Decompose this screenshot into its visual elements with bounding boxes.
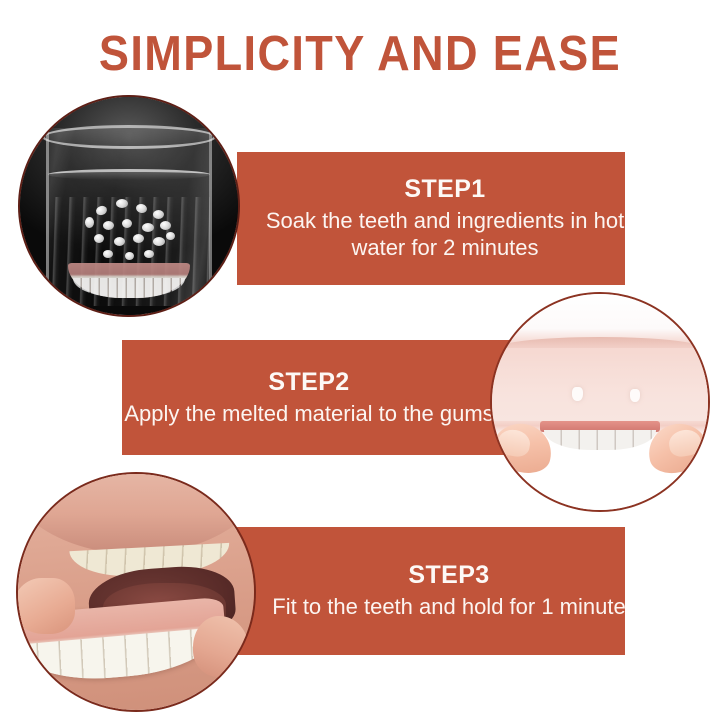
pellet-icon: [153, 237, 165, 246]
pellet-icon: [103, 250, 113, 258]
veneer-teeth-row: [544, 430, 656, 449]
gum-band-shape: [492, 348, 708, 421]
step-2-label: STEP2: [268, 368, 349, 397]
mouth-fitting-photo: [18, 474, 254, 710]
step-1-photo-circle: [18, 95, 240, 317]
step-3-photo-circle: [16, 472, 256, 712]
tooth-hint-icon: [630, 389, 640, 402]
step-3-description: Fit to the teeth and hold for 1 minute: [258, 593, 639, 621]
step-banner-2: STEP2 Apply the melted material to the g…: [122, 340, 520, 455]
pellet-icon: [160, 221, 171, 230]
water-surface-line: [48, 169, 209, 180]
tooth-hint-icon: [572, 387, 583, 401]
step-1-label: STEP1: [404, 175, 485, 204]
right-finger-shape: [193, 616, 250, 677]
gums-application-photo: [492, 294, 708, 510]
upper-lip-shape: [16, 472, 256, 554]
step-2-description: Apply the melted material to the gums: [110, 400, 507, 428]
pellet-icon: [144, 250, 154, 258]
step-banner-1: STEP1 Soak the teeth and ingredients in …: [237, 152, 625, 285]
page-title: SIMPLICITY AND EASE: [29, 26, 691, 82]
pellet-icon: [125, 252, 134, 260]
step-1-description: Soak the teeth and ingredients in hot wa…: [251, 207, 639, 262]
step-banner-3: STEP3 Fit to the teeth and hold for 1 mi…: [237, 527, 625, 655]
step-3-label: STEP3: [408, 561, 489, 590]
step-2-photo-circle: [490, 292, 710, 512]
pellet-icon: [114, 237, 125, 246]
infographic-page: SIMPLICITY AND EASE STEP1 Soak the teeth…: [0, 0, 720, 720]
thumb-shape: [16, 578, 75, 635]
glass-of-water-photo: [20, 97, 238, 315]
